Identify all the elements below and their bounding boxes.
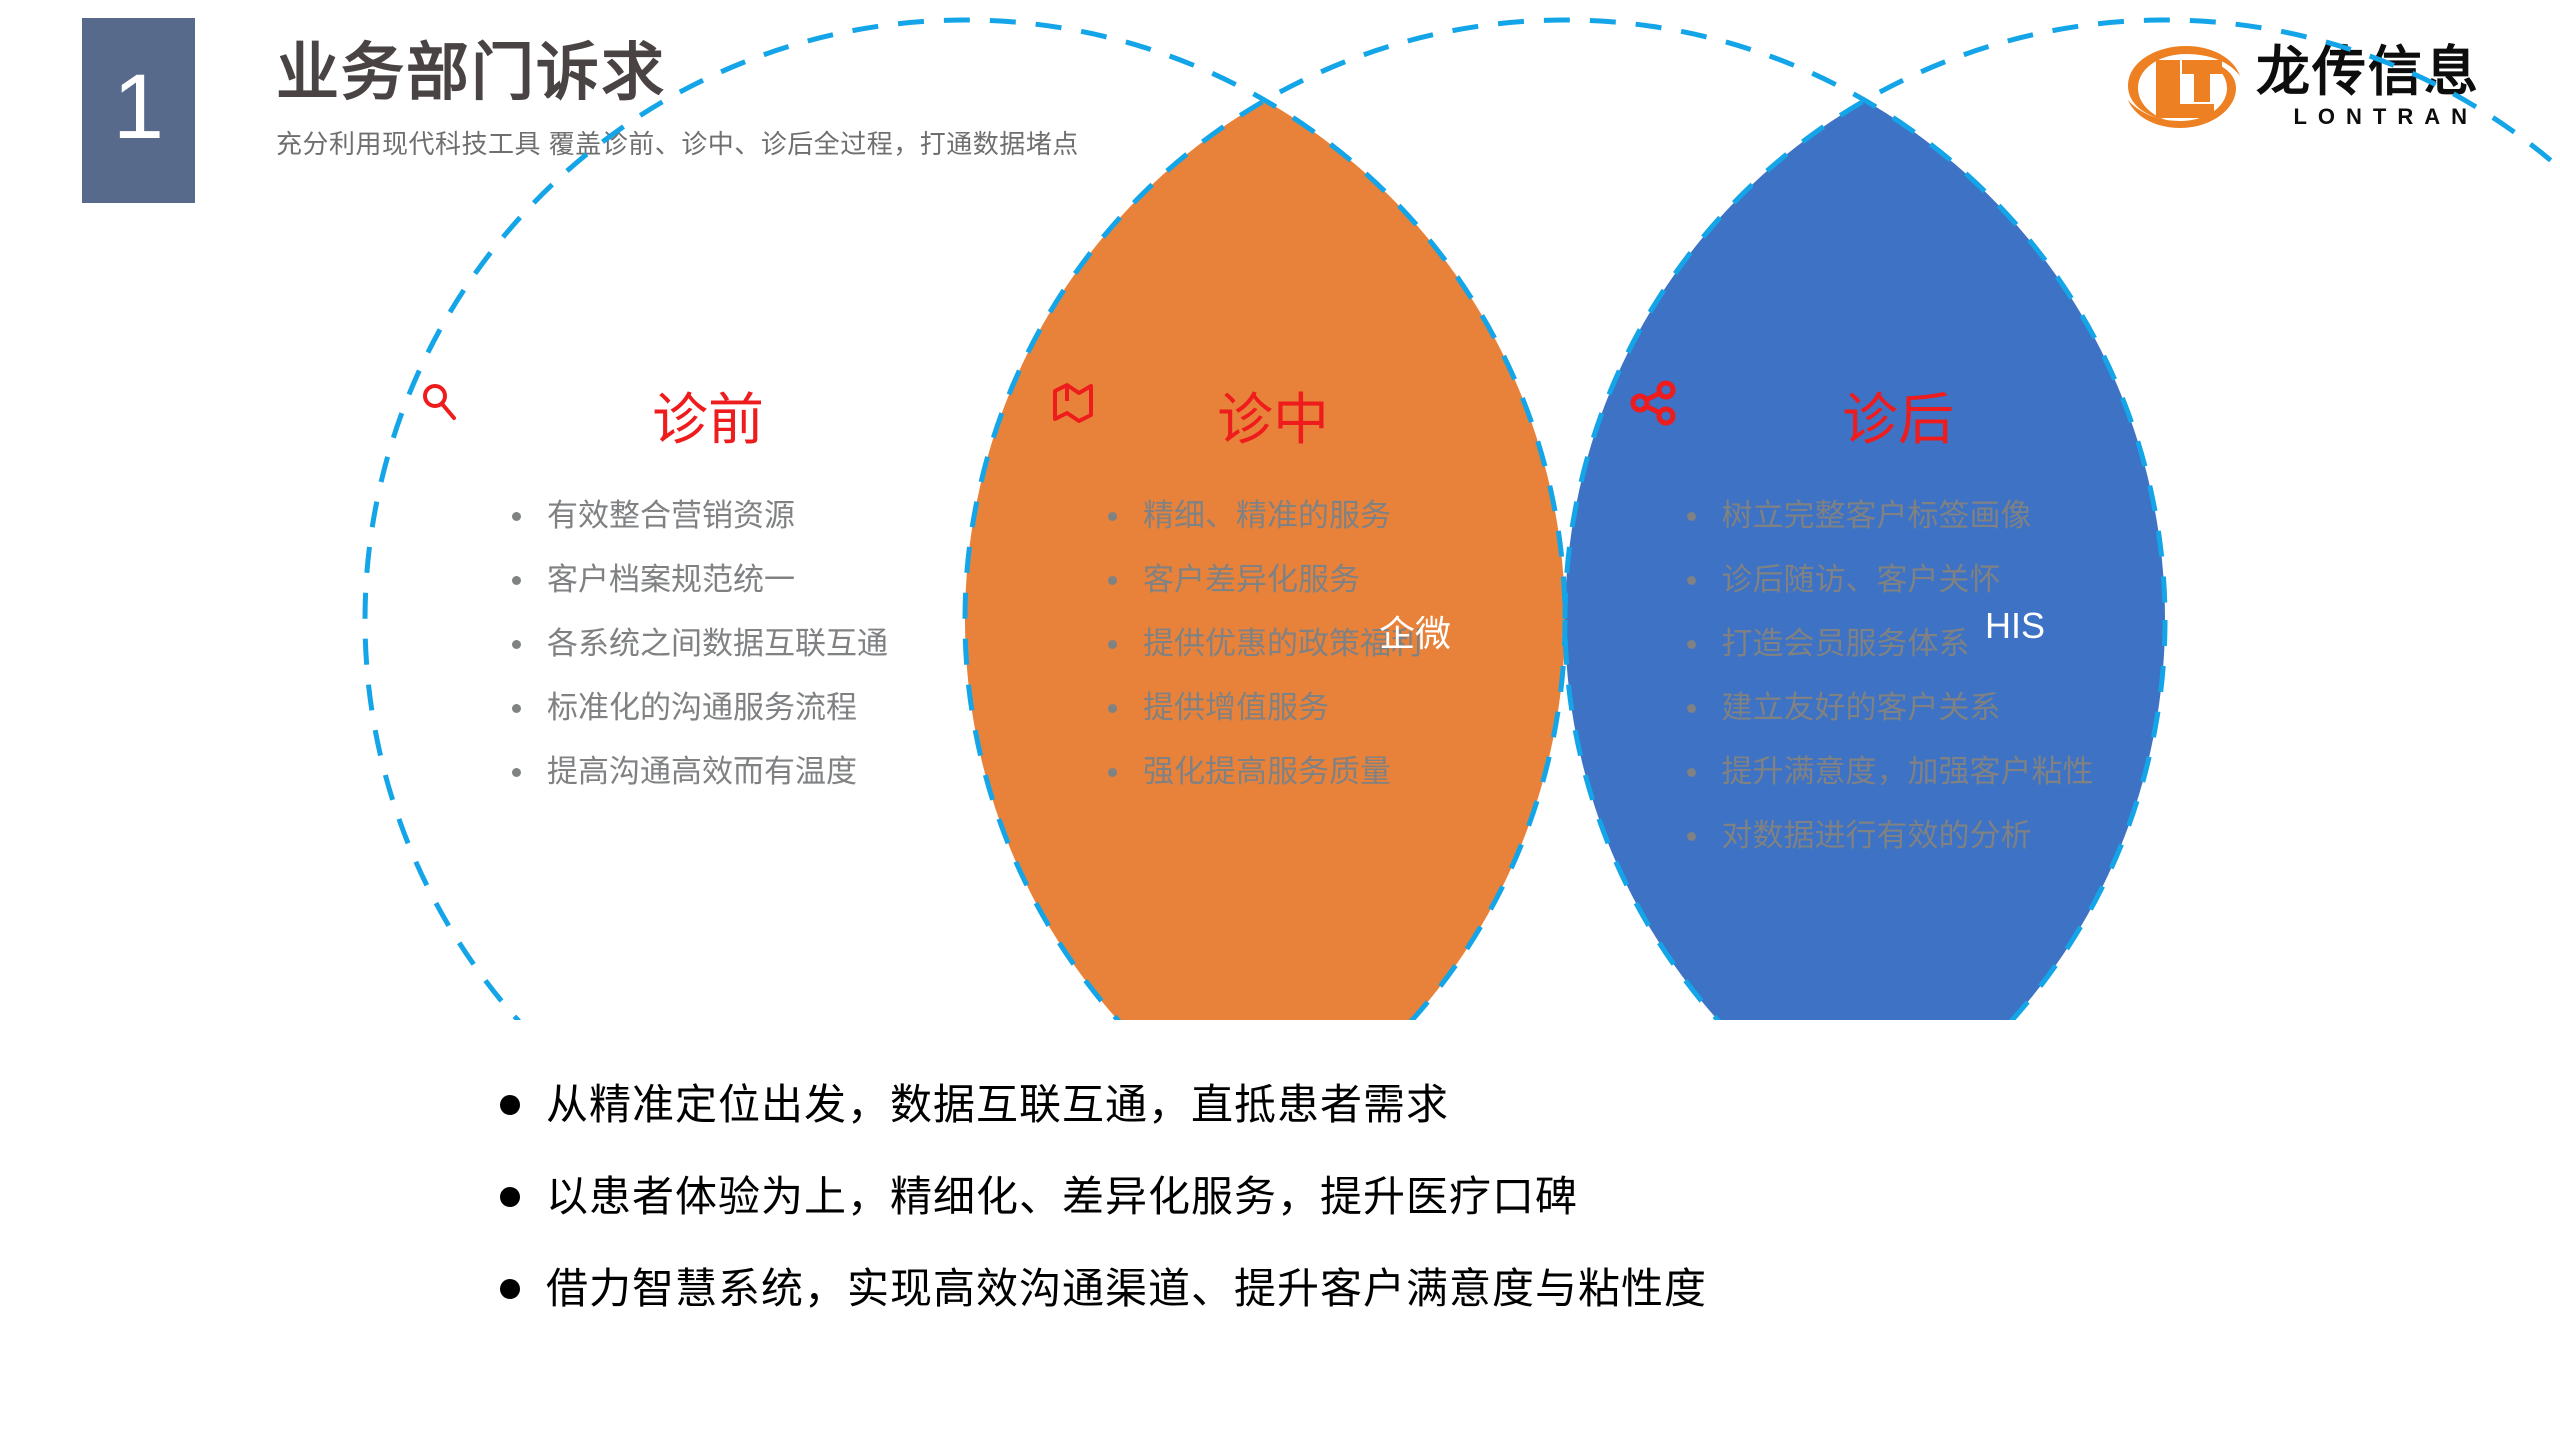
list-item-label: 精细、精准的服务	[1143, 500, 1391, 531]
list-item: 提供增值服务	[1108, 692, 1422, 723]
list-item-label: 提供增值服务	[1143, 692, 1329, 723]
venn-diagram: 诊前 有效整合营销资源 客户档案规范统一 各系统之间数据互联互通 标准化的沟通服…	[0, 0, 2560, 1020]
lens-label-qiwei: 企微	[1265, 605, 1565, 657]
list-item: 提升满意度，加强客户粘性	[1687, 756, 2094, 787]
bullet-dot-icon	[1687, 640, 1696, 649]
list-item-label: 客户差异化服务	[1143, 564, 1360, 595]
list-item: 各系统之间数据互联互通	[512, 628, 888, 659]
list-item-label: 客户档案规范统一	[547, 564, 795, 595]
bullet-disc-icon	[500, 1095, 520, 1115]
list-item: 标准化的沟通服务流程	[512, 692, 888, 723]
list-item: 精细、精准的服务	[1108, 500, 1422, 531]
venn-list-post-visit: 树立完整客户标签画像 诊后随访、客户关怀 打造会员服务体系 建立友好的客户关系 …	[1687, 500, 2094, 884]
bullet-dot-icon	[1687, 512, 1696, 521]
summary-bullet-row: 借力智慧系统，实现高效沟通渠道、提升客户满意度与粘性度	[500, 1266, 2200, 1312]
list-item-label: 各系统之间数据互联互通	[547, 628, 888, 659]
summary-bullet-row: 从精准定位出发，数据互联互通，直抵患者需求	[500, 1082, 2200, 1128]
bullet-disc-icon	[500, 1279, 520, 1299]
list-item-label: 有效整合营销资源	[547, 500, 795, 531]
bullet-disc-icon	[500, 1187, 520, 1207]
lens-label-his: HIS	[1865, 605, 2165, 647]
venn-heading-in-visit: 诊中	[1050, 380, 1480, 450]
bullet-dot-icon	[512, 768, 521, 777]
list-item: 诊后随访、客户关怀	[1687, 564, 2094, 595]
venn-heading-post-visit: 诊后	[1630, 380, 2150, 450]
list-item: 有效整合营销资源	[512, 500, 888, 531]
summary-bullet-row: 以患者体验为上，精细化、差异化服务，提升医疗口碑	[500, 1174, 2200, 1220]
summary-bullet-label: 从精准定位出发，数据互联互通，直抵患者需求	[546, 1082, 1449, 1128]
venn-heading-label-post-visit: 诊后	[1842, 375, 1954, 456]
summary-bullet-label: 以患者体验为上，精细化、差异化服务，提升医疗口碑	[546, 1174, 1578, 1220]
list-item-label: 对数据进行有效的分析	[1722, 820, 2032, 851]
venn-heading-pre-visit: 诊前	[420, 380, 980, 450]
bullet-dot-icon	[512, 512, 521, 521]
list-item-label: 提升满意度，加强客户粘性	[1722, 756, 2094, 787]
list-item-label: 树立完整客户标签画像	[1722, 500, 2032, 531]
bullet-dot-icon	[1108, 768, 1117, 777]
list-item-label: 提高沟通高效而有温度	[547, 756, 857, 787]
bullet-dot-icon	[1108, 576, 1117, 585]
bullet-dot-icon	[1108, 640, 1117, 649]
list-item: 客户档案规范统一	[512, 564, 888, 595]
venn-heading-label-pre-visit: 诊前	[652, 375, 764, 456]
list-item: 客户差异化服务	[1108, 564, 1422, 595]
bullet-dot-icon	[1687, 576, 1696, 585]
bullet-dot-icon	[1108, 512, 1117, 521]
venn-column-pre-visit: 诊前 有效整合营销资源 客户档案规范统一 各系统之间数据互联互通 标准化的沟通服…	[420, 380, 980, 820]
venn-list-pre-visit: 有效整合营销资源 客户档案规范统一 各系统之间数据互联互通 标准化的沟通服务流程…	[512, 500, 888, 820]
bullet-dot-icon	[1687, 832, 1696, 841]
list-item-label: 标准化的沟通服务流程	[547, 692, 857, 723]
bullet-dot-icon	[512, 640, 521, 649]
list-item-label: 诊后随访、客户关怀	[1722, 564, 2001, 595]
list-item: 提高沟通高效而有温度	[512, 756, 888, 787]
summary-bullets: 从精准定位出发，数据互联互通，直抵患者需求 以患者体验为上，精细化、差异化服务，…	[500, 1082, 2200, 1359]
list-item: 树立完整客户标签画像	[1687, 500, 2094, 531]
list-item: 强化提高服务质量	[1108, 756, 1422, 787]
list-item: 对数据进行有效的分析	[1687, 820, 2094, 851]
summary-bullet-label: 借力智慧系统，实现高效沟通渠道、提升客户满意度与粘性度	[546, 1266, 1707, 1312]
bullet-dot-icon	[1687, 704, 1696, 713]
bullet-dot-icon	[1108, 704, 1117, 713]
bullet-dot-icon	[1687, 768, 1696, 777]
venn-heading-label-in-visit: 诊中	[1217, 375, 1329, 456]
list-item-label: 强化提高服务质量	[1143, 756, 1391, 787]
bullet-dot-icon	[512, 576, 521, 585]
venn-column-in-visit: 诊中 精细、精准的服务 客户差异化服务 提供优惠的政策福利 提供增值服务 强化提…	[1050, 380, 1480, 820]
list-item-label: 建立友好的客户关系	[1722, 692, 2001, 723]
venn-list-in-visit: 精细、精准的服务 客户差异化服务 提供优惠的政策福利 提供增值服务 强化提高服务…	[1108, 500, 1422, 820]
bullet-dot-icon	[512, 704, 521, 713]
list-item: 建立友好的客户关系	[1687, 692, 2094, 723]
